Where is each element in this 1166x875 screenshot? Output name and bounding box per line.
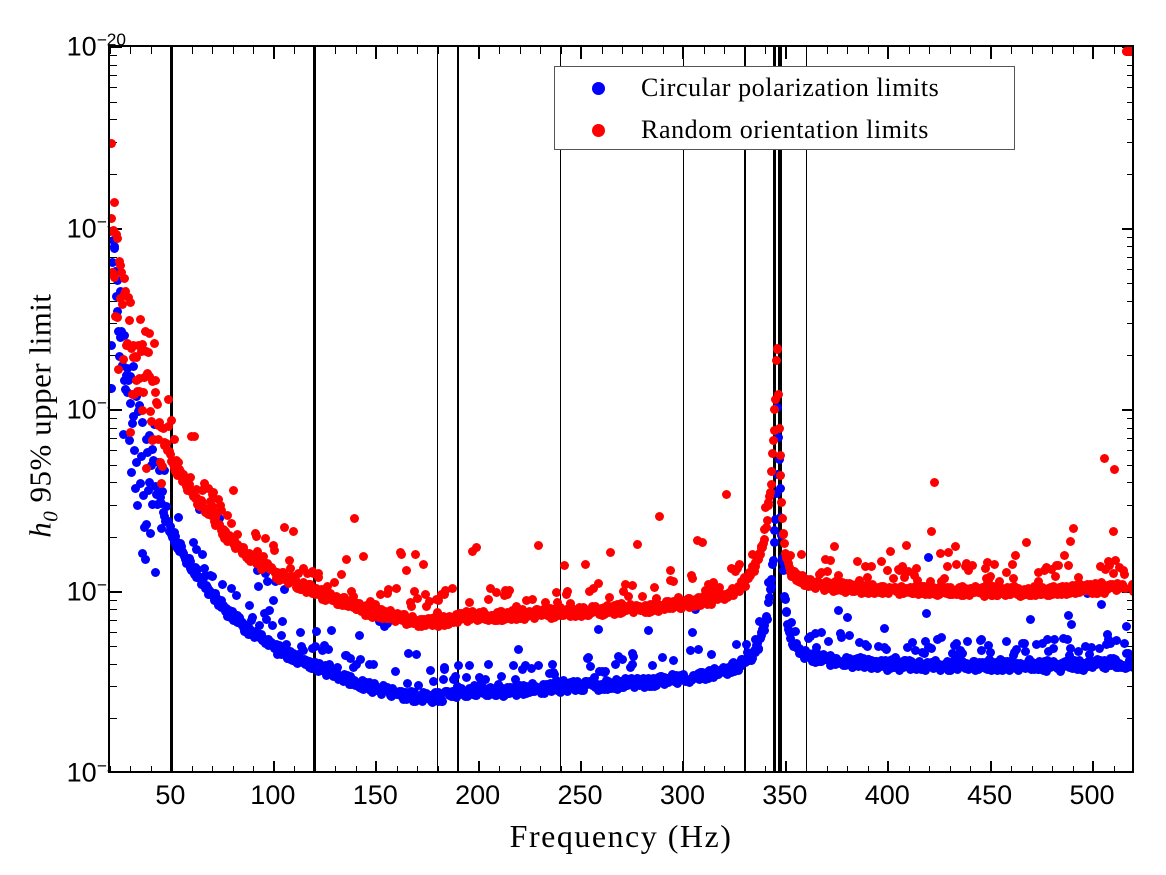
data-point	[481, 610, 490, 619]
data-point	[239, 621, 248, 630]
data-point	[217, 603, 226, 612]
data-point	[418, 697, 427, 706]
data-point	[481, 675, 490, 684]
data-point	[631, 606, 640, 615]
data-point	[108, 384, 116, 393]
data-point	[725, 664, 734, 673]
data-point	[274, 647, 283, 656]
data-point	[489, 611, 498, 620]
data-point	[877, 582, 886, 591]
data-point	[712, 670, 721, 679]
data-point	[993, 660, 1002, 669]
data-point	[1037, 661, 1046, 670]
data-point	[864, 655, 873, 664]
y-tick-major	[1122, 591, 1134, 593]
data-point	[479, 607, 488, 616]
data-point	[1098, 581, 1107, 590]
data-point	[114, 327, 123, 336]
data-point	[488, 684, 497, 693]
y-tick-major	[1122, 228, 1134, 230]
data-point	[413, 594, 422, 603]
data-point	[639, 606, 648, 615]
data-point	[705, 666, 714, 675]
data-point	[490, 687, 499, 696]
data-point	[856, 653, 865, 662]
data-point	[468, 547, 477, 556]
data-point	[560, 561, 569, 570]
data-point	[671, 677, 680, 686]
data-point	[405, 619, 414, 628]
data-point	[545, 612, 554, 621]
data-point	[281, 646, 290, 655]
data-point	[881, 587, 890, 596]
data-point	[554, 611, 563, 620]
data-point	[613, 600, 622, 609]
data-point	[898, 562, 907, 571]
data-point	[182, 559, 191, 568]
data-point	[231, 615, 240, 624]
data-point	[713, 595, 722, 604]
data-point	[847, 657, 856, 666]
data-point	[250, 556, 259, 565]
data-point	[228, 538, 237, 547]
data-point	[836, 585, 845, 594]
data-point	[870, 587, 879, 596]
data-point	[173, 471, 182, 480]
data-point	[1084, 583, 1093, 592]
data-point	[792, 639, 801, 648]
data-point	[1091, 579, 1100, 588]
data-point	[895, 660, 904, 669]
data-point	[469, 612, 478, 621]
data-point	[1021, 588, 1030, 597]
data-point	[544, 684, 553, 693]
data-point	[930, 478, 939, 487]
data-point	[352, 660, 361, 669]
data-point	[1011, 664, 1020, 673]
y-tick-minor	[1127, 450, 1134, 451]
data-point	[932, 584, 941, 593]
data-point	[604, 677, 613, 686]
data-point	[1023, 662, 1032, 671]
data-point	[534, 541, 543, 550]
data-point	[985, 582, 994, 591]
data-point	[385, 688, 394, 697]
data-point	[810, 579, 819, 588]
data-point	[616, 609, 625, 618]
data-point	[890, 663, 899, 672]
data-point	[1037, 589, 1046, 598]
x-tick-minor	[397, 766, 398, 773]
data-point	[1059, 658, 1068, 667]
data-point	[321, 594, 330, 603]
data-point	[1015, 663, 1024, 672]
data-point	[218, 530, 227, 539]
data-point	[1058, 663, 1067, 672]
data-point	[918, 648, 927, 657]
data-point	[520, 684, 529, 693]
data-point	[628, 581, 637, 590]
data-point	[938, 585, 947, 594]
data-point	[229, 486, 238, 495]
data-point	[1034, 577, 1043, 586]
data-point	[987, 663, 996, 672]
data-point	[860, 588, 869, 597]
data-point	[634, 678, 643, 687]
data-point	[179, 473, 188, 482]
data-point	[120, 274, 129, 283]
data-point	[830, 654, 839, 663]
data-point	[917, 665, 926, 674]
data-point	[181, 555, 190, 564]
data-point	[1001, 591, 1010, 600]
data-point	[784, 625, 793, 634]
data-point	[395, 610, 404, 619]
data-point	[327, 591, 336, 600]
data-point	[929, 664, 938, 673]
data-point	[966, 584, 975, 593]
data-point	[245, 549, 254, 558]
data-point	[871, 586, 880, 595]
data-point	[650, 583, 659, 592]
data-point	[346, 597, 355, 606]
data-point	[255, 559, 264, 568]
data-point	[569, 606, 578, 615]
data-point	[258, 556, 267, 565]
data-point	[233, 618, 242, 627]
data-point	[575, 610, 584, 619]
data-point	[607, 680, 616, 689]
data-point	[108, 258, 117, 267]
data-point	[661, 599, 670, 608]
data-point	[1101, 664, 1110, 673]
data-point	[391, 617, 400, 626]
y-tick-major	[1122, 46, 1134, 48]
data-point	[449, 613, 458, 622]
data-point	[965, 660, 974, 669]
data-point	[425, 597, 434, 606]
data-point	[868, 657, 877, 666]
data-point	[146, 529, 155, 538]
data-point	[939, 663, 948, 672]
data-point	[136, 315, 145, 324]
x-tick-major	[682, 47, 684, 59]
y-axis-label-rest: 95% upper limit	[22, 293, 57, 502]
figure-root: h0 95% upper limit 10−2410−2310−2210−211…	[0, 0, 1166, 875]
data-point	[733, 564, 742, 573]
data-point	[320, 641, 329, 650]
data-point	[194, 500, 203, 509]
data-point	[288, 656, 297, 665]
data-point	[1040, 660, 1049, 669]
data-point	[732, 584, 741, 593]
data-point	[1065, 651, 1074, 660]
data-point	[574, 608, 583, 617]
data-point	[281, 574, 290, 583]
data-point	[831, 660, 840, 669]
data-point	[1078, 583, 1087, 592]
data-point	[756, 634, 765, 643]
data-point	[175, 547, 184, 556]
data-point	[381, 607, 390, 616]
data-point	[137, 347, 146, 356]
data-point	[248, 613, 257, 622]
data-point	[424, 617, 433, 626]
data-point	[823, 654, 832, 663]
data-point	[745, 652, 754, 661]
data-point	[745, 656, 754, 665]
data-point	[221, 607, 230, 616]
data-point	[806, 575, 815, 584]
data-point	[535, 609, 544, 618]
data-point	[600, 610, 609, 619]
y-tick-minor	[1127, 323, 1134, 324]
data-point	[255, 555, 264, 564]
data-point	[1106, 582, 1115, 591]
data-point	[1002, 588, 1011, 597]
data-point	[198, 498, 207, 507]
legend[interactable]: Circular polarization limits Random orie…	[554, 66, 1015, 150]
data-point	[324, 591, 333, 600]
data-point	[797, 550, 806, 559]
y-tick-minor	[1127, 55, 1134, 56]
data-point	[1112, 586, 1121, 595]
data-point	[1025, 655, 1034, 664]
data-point	[581, 681, 590, 690]
data-point	[1030, 665, 1039, 674]
data-point	[680, 600, 689, 609]
legend-entry-circular[interactable]: Circular polarization limits	[555, 67, 1014, 109]
data-point	[902, 661, 911, 670]
data-point	[879, 582, 888, 591]
data-point	[337, 672, 346, 681]
data-point	[1067, 620, 1076, 629]
data-point	[888, 655, 897, 664]
data-point	[393, 688, 402, 697]
data-point	[362, 605, 371, 614]
data-point	[872, 657, 881, 666]
data-point	[204, 510, 213, 519]
data-point	[578, 685, 587, 694]
data-point	[122, 341, 131, 350]
data-point	[850, 587, 859, 596]
data-point	[947, 659, 956, 668]
data-point	[648, 661, 657, 670]
data-point	[568, 606, 577, 615]
data-point	[1035, 583, 1044, 592]
data-point	[690, 602, 699, 611]
data-point	[897, 582, 906, 591]
data-point	[423, 615, 432, 624]
data-point	[333, 670, 342, 679]
data-point	[318, 595, 327, 604]
data-point	[987, 591, 996, 600]
data-point	[896, 660, 905, 669]
data-point	[419, 688, 428, 697]
data-point	[410, 587, 419, 596]
legend-entry-random[interactable]: Random orientation limits	[555, 109, 1014, 151]
data-point	[631, 676, 640, 685]
data-point	[1031, 583, 1040, 592]
data-point	[535, 684, 544, 693]
data-point	[1092, 660, 1101, 669]
data-point	[1015, 589, 1024, 598]
y-axis-label-subscript: 0	[39, 511, 63, 522]
data-point	[722, 490, 731, 499]
data-point	[468, 690, 477, 699]
data-point	[256, 631, 265, 640]
data-point	[591, 605, 600, 614]
data-point	[704, 580, 713, 589]
x-tick-label-150: 150	[353, 780, 398, 811]
data-point	[279, 648, 288, 657]
data-point	[908, 663, 917, 672]
data-point	[1081, 581, 1090, 590]
data-point	[716, 589, 725, 598]
data-point	[840, 657, 849, 666]
data-point	[365, 660, 374, 669]
data-point	[760, 626, 769, 635]
data-point	[219, 525, 228, 534]
data-point	[384, 687, 393, 696]
data-point	[431, 619, 440, 628]
data-point	[840, 584, 849, 593]
data-point	[646, 600, 655, 609]
data-point	[647, 605, 656, 614]
data-point	[839, 661, 848, 670]
data-point	[371, 600, 380, 609]
x-tick-minor	[130, 766, 131, 773]
data-point	[391, 667, 400, 676]
data-point	[901, 588, 910, 597]
data-point	[651, 679, 660, 688]
data-point	[978, 658, 987, 667]
data-point	[760, 621, 769, 630]
data-point	[787, 572, 796, 581]
data-point	[1018, 639, 1027, 648]
data-point	[709, 578, 718, 587]
data-point	[330, 596, 339, 605]
data-point	[1122, 649, 1131, 658]
data-point	[720, 664, 729, 673]
data-point	[519, 690, 528, 699]
data-point	[524, 608, 533, 617]
data-point	[302, 657, 311, 666]
data-point	[1079, 666, 1088, 675]
data-point	[583, 611, 592, 620]
x-tick-minor	[1011, 766, 1012, 773]
data-point	[863, 642, 872, 651]
data-point	[725, 588, 734, 597]
data-point	[442, 687, 451, 696]
data-point	[1106, 639, 1115, 648]
data-point	[791, 627, 800, 636]
data-point	[211, 593, 220, 602]
x-tick-major	[887, 47, 889, 59]
data-point	[114, 365, 123, 374]
data-point	[1091, 660, 1100, 669]
data-point	[696, 601, 705, 610]
data-point	[648, 604, 657, 613]
data-point	[222, 604, 231, 613]
data-point	[520, 615, 529, 624]
data-point	[547, 683, 556, 692]
data-point	[721, 590, 730, 599]
data-point	[753, 555, 762, 564]
data-point	[1000, 657, 1009, 666]
data-point	[142, 520, 151, 529]
data-point	[179, 550, 188, 559]
data-point	[962, 659, 971, 668]
data-point	[493, 616, 502, 625]
data-point	[503, 608, 512, 617]
data-point	[421, 692, 430, 701]
data-point	[177, 470, 186, 479]
data-point	[405, 618, 414, 627]
data-point	[894, 565, 903, 574]
data-point	[855, 583, 864, 592]
data-point	[886, 585, 895, 594]
y-tick-minor	[110, 620, 117, 621]
data-point	[521, 661, 530, 670]
data-point	[246, 630, 255, 639]
data-point	[152, 490, 161, 499]
data-point	[699, 670, 708, 679]
data-point	[201, 584, 210, 593]
data-point	[735, 560, 744, 569]
data-point	[1071, 660, 1080, 669]
data-point	[328, 668, 337, 677]
x-tick-label-300: 300	[660, 780, 705, 811]
data-point	[440, 665, 449, 674]
data-point	[695, 675, 704, 684]
x-tick-major	[375, 761, 377, 773]
data-point	[1093, 580, 1102, 589]
data-point	[550, 685, 559, 694]
data-point	[672, 678, 681, 687]
data-point	[258, 564, 267, 573]
x-tick-minor	[192, 766, 193, 773]
data-point	[283, 574, 292, 583]
data-point	[554, 686, 563, 695]
data-point	[1063, 635, 1072, 644]
data-point	[1090, 659, 1099, 668]
data-point	[1046, 663, 1055, 672]
data-point	[569, 677, 578, 686]
data-point	[339, 677, 348, 686]
data-point	[788, 571, 797, 580]
data-point	[467, 610, 476, 619]
data-point	[624, 592, 633, 601]
y-tick-major	[110, 591, 122, 593]
data-point	[614, 606, 623, 615]
data-point	[355, 599, 364, 608]
data-point	[761, 503, 770, 512]
data-point	[204, 587, 213, 596]
data-point	[567, 683, 576, 692]
data-point	[637, 606, 646, 615]
data-point	[292, 583, 301, 592]
data-point	[1111, 556, 1120, 565]
data-point	[921, 637, 930, 646]
data-point	[1056, 667, 1065, 676]
data-point	[529, 684, 538, 693]
data-point	[732, 662, 741, 671]
data-point	[438, 697, 447, 706]
data-point	[108, 214, 116, 223]
data-point	[882, 584, 891, 593]
data-point	[848, 583, 857, 592]
